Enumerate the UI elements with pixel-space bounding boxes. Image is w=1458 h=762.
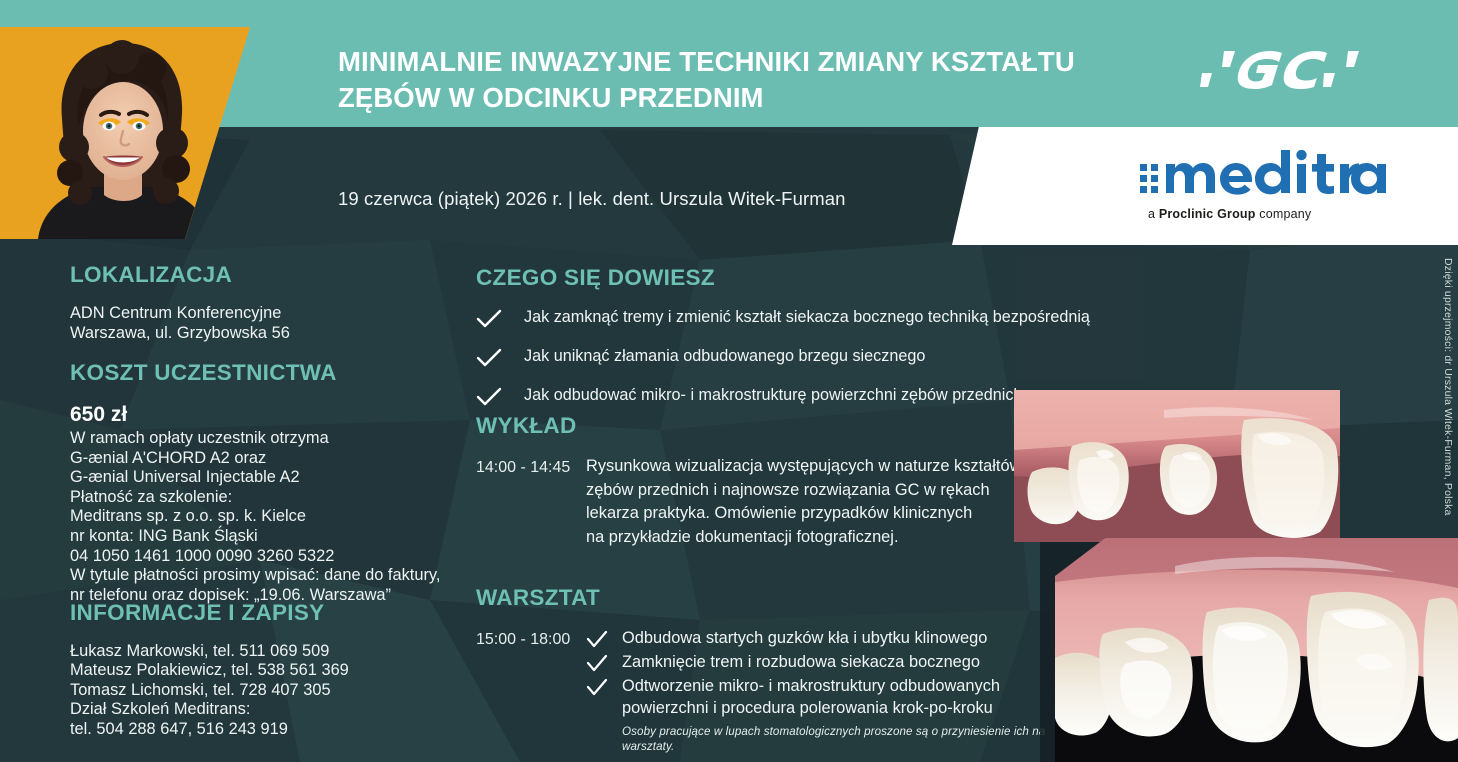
workshop-note: Osoby pracujące w lupach stomatologiczny… (622, 724, 1076, 754)
learn-item-text: Jak uniknąć złamania odbudowanego brzegu… (524, 346, 925, 367)
lecture-schedule: 14:00 - 14:45 Rysunkowa wizualizacja wys… (476, 455, 1036, 549)
workshop-item-text: Zamknięcie trem i rozbudowa siekacza boc… (622, 651, 980, 673)
clinical-photo-1-image (1014, 390, 1340, 542)
workshop-list: Odbudowa startych guzków kła i ubytku kl… (586, 627, 1076, 719)
contact-details: Łukasz Markowski, tel. 511 069 509 Mateu… (70, 642, 470, 739)
gc-logo-icon (1196, 43, 1386, 93)
page-title: MINIMALNIE INWAZYJNE TECHNIKI ZMIANY KSZ… (338, 44, 1178, 116)
cost-line: Meditrans sp. z o.o. sp. k. Kielce (70, 507, 470, 527)
contact-line: Mateusz Polakiewicz, tel. 538 561 369 (70, 661, 470, 680)
contact-line: tel. 504 288 647, 516 243 919 (70, 720, 470, 739)
lecture-description: Rysunkowa wizualizacja występujących w n… (586, 455, 1021, 549)
photo-credit: Dzięki uprzejmości: dr Urszula Witek-Fur… (1442, 258, 1454, 516)
learn-item-text: Jak odbudować mikro- i makrostrukturę po… (524, 385, 1022, 406)
cost-details: W ramach opłaty uczestnik otrzyma G-ænia… (70, 429, 470, 605)
section-location: LOKALIZACJA ADN Centrum Konferencyjne Wa… (70, 262, 450, 343)
title-line-1: MINIMALNIE INWAZYJNE TECHNIKI ZMIANY KSZ… (338, 44, 1178, 80)
list-item: Jak zamknąć tremy i zmienić kształt siek… (476, 307, 1116, 329)
contact-line: Tomasz Lichomski, tel. 728 407 305 (70, 681, 470, 700)
clinical-photo-2-image (1055, 538, 1458, 762)
list-item: Jak uniknąć złamania odbudowanego brzegu… (476, 346, 1116, 368)
poster-root: MINIMALNIE INWAZYJNE TECHNIKI ZMIANY KSZ… (0, 0, 1458, 762)
contact-heading: INFORMACJE I ZAPISY (70, 600, 470, 626)
learn-heading: CZEGO SIĘ DOWIESZ (476, 265, 1116, 291)
contact-line: Dział Szkoleń Meditrans: (70, 700, 470, 719)
workshop-time: 15:00 - 18:00 (476, 627, 586, 652)
meditrans-logo (1140, 150, 1388, 207)
lecture-line: na przykładzie dokumentacji fotograficzn… (586, 526, 1021, 550)
section-workshop: WARSZTAT 15:00 - 18:00 Odbudowa startych… (476, 585, 1076, 754)
meditrans-wordmark-icon (1140, 150, 1388, 202)
list-item: Odbudowa startych guzków kła i ubytku kl… (586, 627, 1076, 649)
cost-line: W ramach opłaty uczestnik otrzyma (70, 429, 470, 449)
tagline-pre: a (1148, 207, 1159, 221)
cost-line: W tytule płatności prosimy wpisać: dane … (70, 566, 470, 586)
clinical-photo-before (1014, 390, 1340, 542)
sponsor-tagline: a Proclinic Group company (1148, 207, 1311, 221)
tagline-post: company (1256, 207, 1312, 221)
section-lecture: WYKŁAD 14:00 - 14:45 Rysunkowa wizualiza… (476, 413, 1036, 549)
contact-line: Łukasz Markowski, tel. 511 069 509 (70, 642, 470, 661)
list-item: Zamknięcie trem i rozbudowa siekacza boc… (586, 651, 1076, 673)
check-icon (476, 387, 502, 407)
learn-item-text: Jak zamknąć tremy i zmienić kształt siek… (524, 307, 1090, 328)
lecture-heading: WYKŁAD (476, 413, 1036, 439)
tagline-bold: Proclinic Group (1159, 207, 1256, 221)
event-date-presenter: 19 czerwca (piątek) 2026 r. | lek. dent.… (338, 188, 846, 210)
location-venue: ADN Centrum Konferencyjne (70, 304, 450, 324)
check-icon (476, 309, 502, 329)
workshop-heading: WARSZTAT (476, 585, 1076, 611)
section-cost: KOSZT UCZESTNICTWA 650 zł W ramach opłat… (70, 360, 470, 605)
cost-line: Płatność za szkolenie: (70, 488, 470, 508)
location-address: Warszawa, ul. Grzybowska 56 (70, 324, 450, 344)
cost-line: nr konta: ING Bank Śląski (70, 527, 470, 547)
cost-line: G-ænial A'CHORD A2 oraz (70, 449, 470, 469)
location-heading: LOKALIZACJA (70, 262, 450, 288)
lecture-line: zębów przednich i najnowsze rozwiązania … (586, 479, 1021, 503)
cost-heading: KOSZT UCZESTNICTWA (70, 360, 470, 386)
check-icon (586, 654, 608, 673)
workshop-item-text: Odbudowa startych guzków kła i ubytku kl… (622, 627, 987, 649)
bank-account-number: 04 1050 1461 1000 0090 3260 5322 (70, 547, 470, 567)
cost-line: G-ænial Universal Injectable A2 (70, 468, 470, 488)
workshop-item-text: Odtworzenie mikro- i makrostruktury odbu… (622, 675, 1000, 719)
workshop-schedule: 15:00 - 18:00 Odbudowa startych guzków k… (476, 627, 1076, 754)
check-icon (586, 678, 608, 697)
check-icon (586, 630, 608, 649)
clinical-photo-after (1055, 538, 1458, 762)
title-line-2: ZĘBÓW W ODCINKU PRZEDNIM (338, 80, 1178, 116)
check-icon (476, 348, 502, 368)
lecture-time: 14:00 - 14:45 (476, 455, 586, 480)
list-item: Odtworzenie mikro- i makrostruktury odbu… (586, 675, 1076, 719)
section-contact: INFORMACJE I ZAPISY Łukasz Markowski, te… (70, 600, 470, 739)
cost-price: 650 zł (70, 402, 470, 428)
lecture-line: lekarza praktyka. Omówienie przypadków k… (586, 502, 1021, 526)
lecture-line: Rysunkowa wizualizacja występujących w n… (586, 455, 1021, 479)
